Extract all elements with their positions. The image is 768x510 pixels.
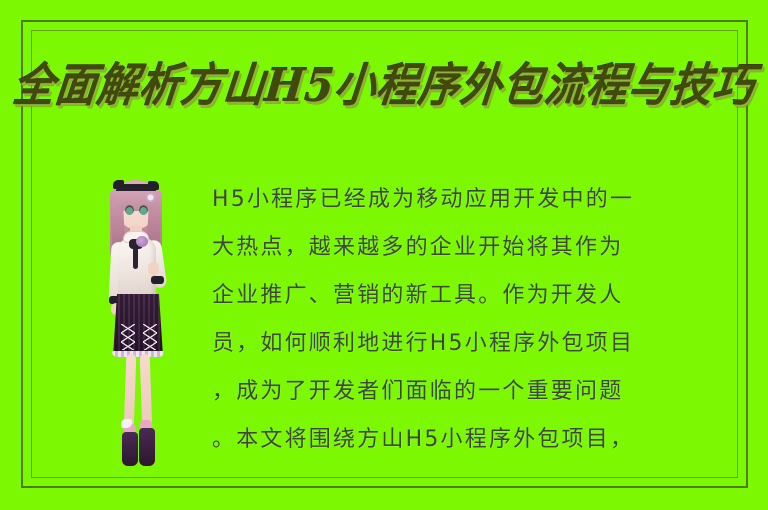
eye-left: [126, 207, 133, 215]
body-line: H5小程序已经成为移动应用开发中的一: [212, 176, 732, 224]
poster-canvas: 全面解析方山H5小程序外包流程与技巧: [0, 0, 768, 510]
eye-right: [140, 207, 147, 215]
hair-bow-left: [113, 180, 124, 189]
body-line: 大热点，越来越多的企业开始将其作为: [212, 224, 732, 272]
page-title: 全面解析方山H5小程序外包流程与技巧: [11, 47, 759, 114]
article-body: H5小程序已经成为移动应用开发中的一 大热点，越来越多的企业开始将其作为 企业推…: [212, 176, 732, 476]
body-line: 。本文将围绕方山H5小程序外包项目，: [212, 416, 732, 464]
skirt-lacing-left: [121, 324, 135, 350]
hand-right: [148, 262, 159, 275]
flower-corsage: [136, 236, 148, 247]
boot-left: [122, 432, 138, 466]
cuff-right: [151, 276, 164, 284]
hair-clip: [146, 193, 155, 202]
skirt-lacing-right: [143, 324, 157, 350]
body-line: ，成为了开发者们面临的一个重要问题: [212, 368, 732, 416]
character-illustration: [96, 176, 180, 472]
body-line: 企业推广、营销的新工具。作为开发人: [212, 272, 732, 320]
ribbon-tail: [133, 247, 138, 269]
boot-right: [139, 428, 155, 466]
body-line: 员，如何顺利地进行H5小程序外包项目: [212, 320, 732, 368]
hair-bow-right: [148, 181, 159, 190]
sock-bow: [121, 419, 132, 428]
skirt-hem: [112, 351, 164, 357]
title-container: 全面解析方山H5小程序外包流程与技巧: [40, 48, 730, 114]
